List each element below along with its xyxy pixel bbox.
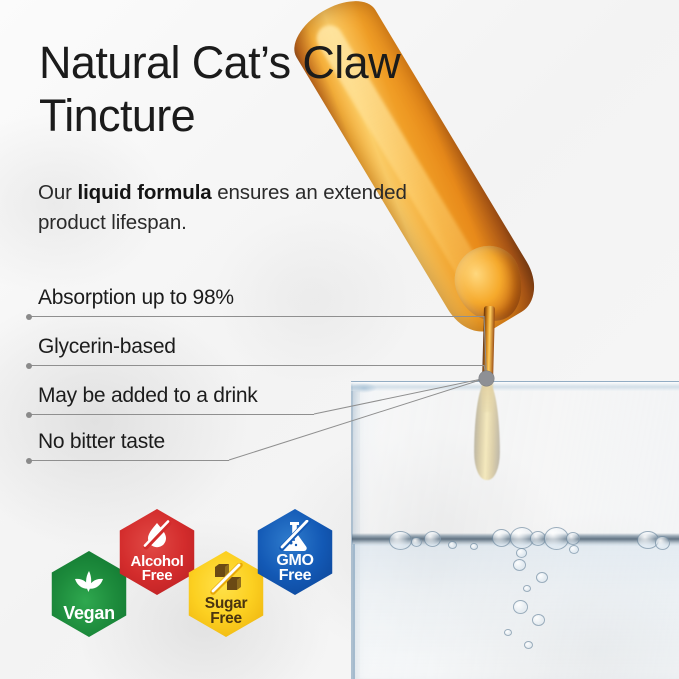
badge-label-line1: GMO: [276, 552, 313, 569]
badge-label: AlcoholFree: [131, 555, 184, 595]
badge-gmo-free: GMOFree: [252, 509, 338, 595]
sugar-cubes-slash-icon: [183, 563, 269, 595]
badge-label: Vegan: [63, 605, 115, 637]
badge-alcohol-free: AlcoholFree: [114, 509, 200, 595]
product-infographic: Natural Cat’s Claw Tincture Our liquid f…: [0, 0, 679, 679]
badge-sugar-free: SugarFree: [183, 551, 269, 637]
flask-slash-icon: [252, 520, 338, 552]
badge-label-line1: Vegan: [63, 603, 115, 623]
leaves-icon: [46, 567, 132, 601]
droplet-slash-icon: [114, 520, 200, 552]
badge-label-line2: Free: [142, 567, 173, 584]
certification-badges: Vegan AlcoholFree: [0, 0, 679, 679]
badge-vegan: Vegan: [46, 551, 132, 637]
badge-label-line2: Free: [210, 610, 242, 627]
badge-label: GMOFree: [276, 553, 313, 595]
badge-label: SugarFree: [205, 596, 247, 637]
badge-label-line2: Free: [279, 567, 312, 584]
